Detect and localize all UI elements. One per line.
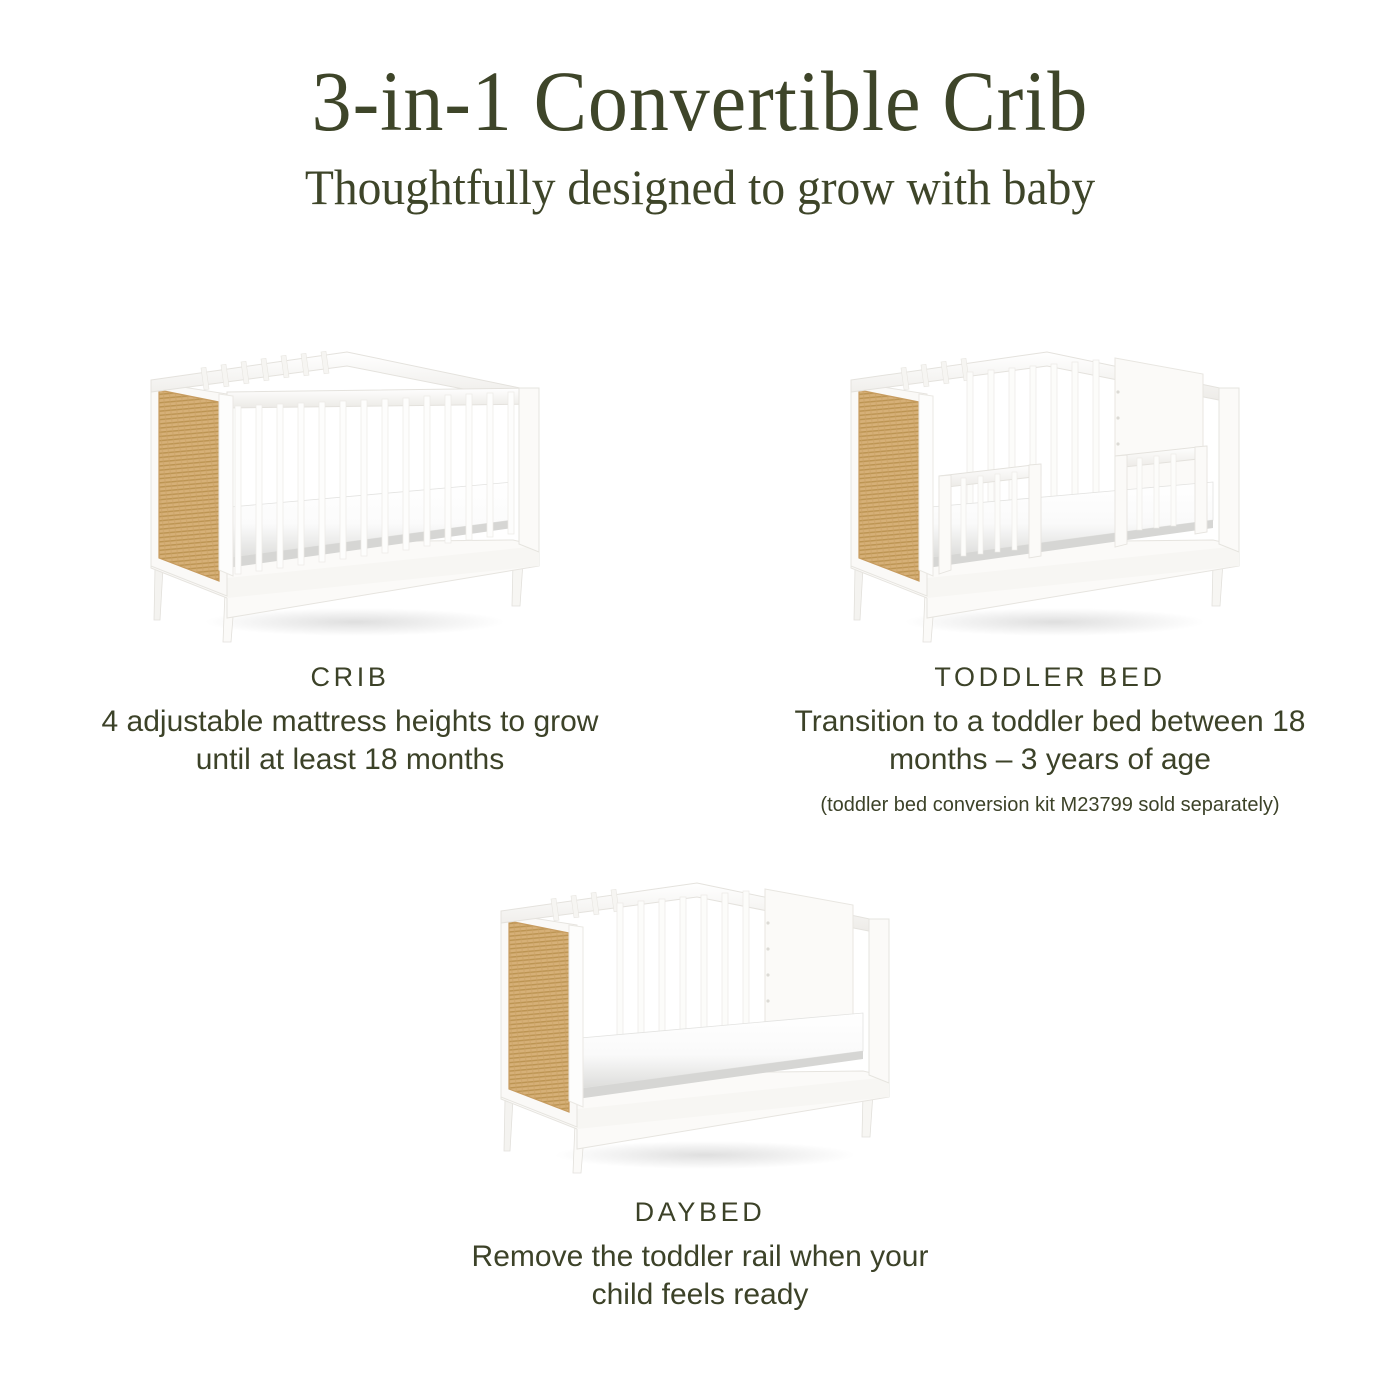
cane-end-panel <box>851 382 927 596</box>
bottom-feature-row: DAYBED Remove the toddler rail when your… <box>0 855 1400 1315</box>
toddler-bed-caption: TODDLER BED Transition to a toddler bed … <box>790 662 1310 818</box>
toddler-bed-illustration <box>815 330 1285 650</box>
feature-panel-crib: CRIB 4 adjustable mattress heights to gr… <box>0 330 700 818</box>
toddler-bed-left-post <box>919 394 933 576</box>
daybed-caption: DAYBED Remove the toddler rail when your… <box>440 1197 960 1315</box>
daybed-left-post <box>569 925 583 1107</box>
feature-panel-toddler-bed: TODDLER BED Transition to a toddler bed … <box>700 330 1400 818</box>
daybed-caption-heading: DAYBED <box>440 1197 960 1228</box>
page-title: 3-in-1 Convertible Crib <box>49 58 1351 144</box>
crib-caption: CRIB 4 adjustable mattress heights to gr… <box>90 662 610 780</box>
daybed-right-post <box>869 919 889 1083</box>
cane-end-panel <box>151 382 227 596</box>
crib-left-post <box>219 394 233 576</box>
toddler-bed-caption-note: (toddler bed conversion kit M23799 sold … <box>790 792 1310 818</box>
crib-caption-heading: CRIB <box>90 662 610 693</box>
page-header: 3-in-1 Convertible Crib Thoughtfully des… <box>0 0 1400 215</box>
page-subtitle: Thoughtfully designed to grow with baby <box>35 160 1365 215</box>
top-feature-row: CRIB 4 adjustable mattress heights to gr… <box>0 330 1400 818</box>
feature-panel-daybed: DAYBED Remove the toddler rail when your… <box>350 855 1050 1315</box>
cane-end-panel <box>501 913 577 1127</box>
crib-caption-body: 4 adjustable mattress heights to grow un… <box>90 703 610 780</box>
crib-right-post <box>519 388 539 552</box>
daybed-caption-body: Remove the toddler rail when your child … <box>440 1238 960 1315</box>
toddler-bed-right-post <box>1219 388 1239 552</box>
toddler-bed-caption-heading: TODDLER BED <box>790 662 1310 693</box>
daybed-illustration <box>465 855 935 1185</box>
toddler-bed-caption-body: Transition to a toddler bed between 18 m… <box>790 703 1310 780</box>
crib-illustration <box>115 330 585 650</box>
